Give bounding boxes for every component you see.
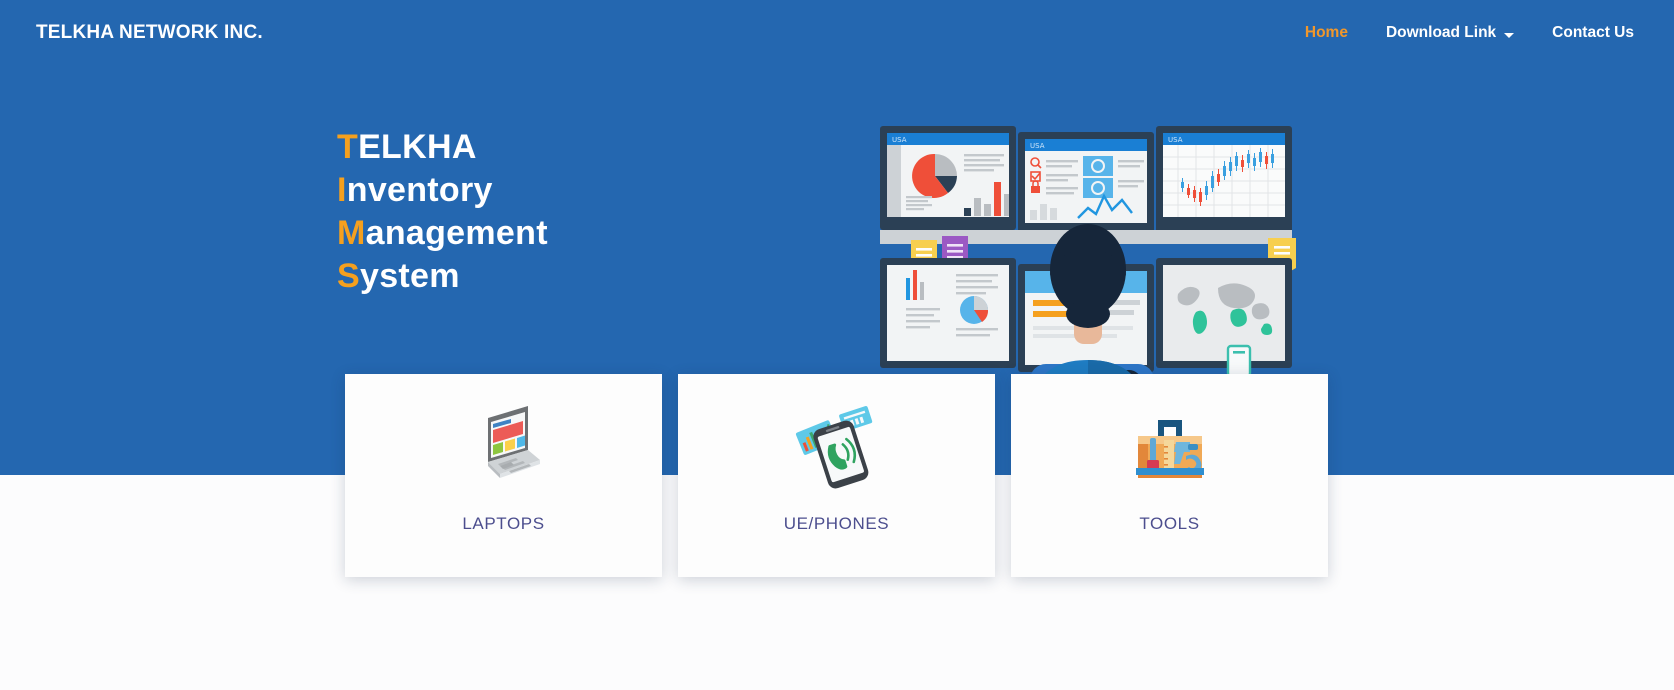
landing-page: USA xyxy=(0,0,1674,690)
brand-logo[interactable]: TELKHA NETWORK INC. xyxy=(36,22,263,44)
toolbox-icon xyxy=(1118,396,1222,492)
hero-heading: TELKHA Inventory Management System xyxy=(337,126,548,298)
category-card-laptops[interactable]: LAPTOPS xyxy=(345,374,662,577)
svg-text:USA: USA xyxy=(1030,142,1045,150)
category-card-tools-label: TOOLS xyxy=(1139,514,1199,534)
category-card-ue-phones-label: UE/PHONES xyxy=(784,514,890,534)
chevron-down-icon xyxy=(1504,33,1514,38)
network-operations-center-illustration: USA xyxy=(878,118,1298,418)
svg-text:USA: USA xyxy=(892,136,907,144)
hero-heading-rest: ELKHA xyxy=(358,128,477,166)
nav-item-download-link-label: Download Link xyxy=(1386,24,1496,42)
hero-heading-rest: nventory xyxy=(347,171,493,209)
svg-text:USA: USA xyxy=(1168,136,1183,144)
hero-acronym-letter: M xyxy=(337,214,366,252)
hero-acronym-letter: S xyxy=(337,257,360,295)
hero-heading-line-1: TELKHA xyxy=(337,126,548,169)
category-card-laptops-label: LAPTOPS xyxy=(462,514,544,534)
hero-acronym-letter: T xyxy=(337,128,358,166)
hero-heading-line-2: Inventory xyxy=(337,169,548,212)
top-navigation-bar: TELKHA NETWORK INC. Home Download Link C… xyxy=(0,0,1674,66)
laptop-icon xyxy=(452,396,556,492)
nav-item-home[interactable]: Home xyxy=(1305,24,1348,42)
nav-item-download-link[interactable]: Download Link xyxy=(1386,24,1514,42)
nav-item-contact-us[interactable]: Contact Us xyxy=(1552,24,1634,42)
category-card-tools[interactable]: TOOLS xyxy=(1011,374,1328,577)
smartphone-icon xyxy=(785,396,889,492)
hero-acronym-letter: I xyxy=(337,171,347,209)
hero-heading-rest: ystem xyxy=(360,257,460,295)
category-card-ue-phones[interactable]: UE/PHONES xyxy=(678,374,995,577)
nav-item-contact-us-label: Contact Us xyxy=(1552,24,1634,42)
nav-links: Home Download Link Contact Us xyxy=(1305,24,1634,42)
hero-heading-line-4: System xyxy=(337,255,548,298)
hero-heading-line-3: Management xyxy=(337,212,548,255)
hero-heading-rest: anagement xyxy=(366,214,548,252)
nav-item-home-label: Home xyxy=(1305,24,1348,42)
category-cards: LAPTOPS xyxy=(345,374,1328,577)
